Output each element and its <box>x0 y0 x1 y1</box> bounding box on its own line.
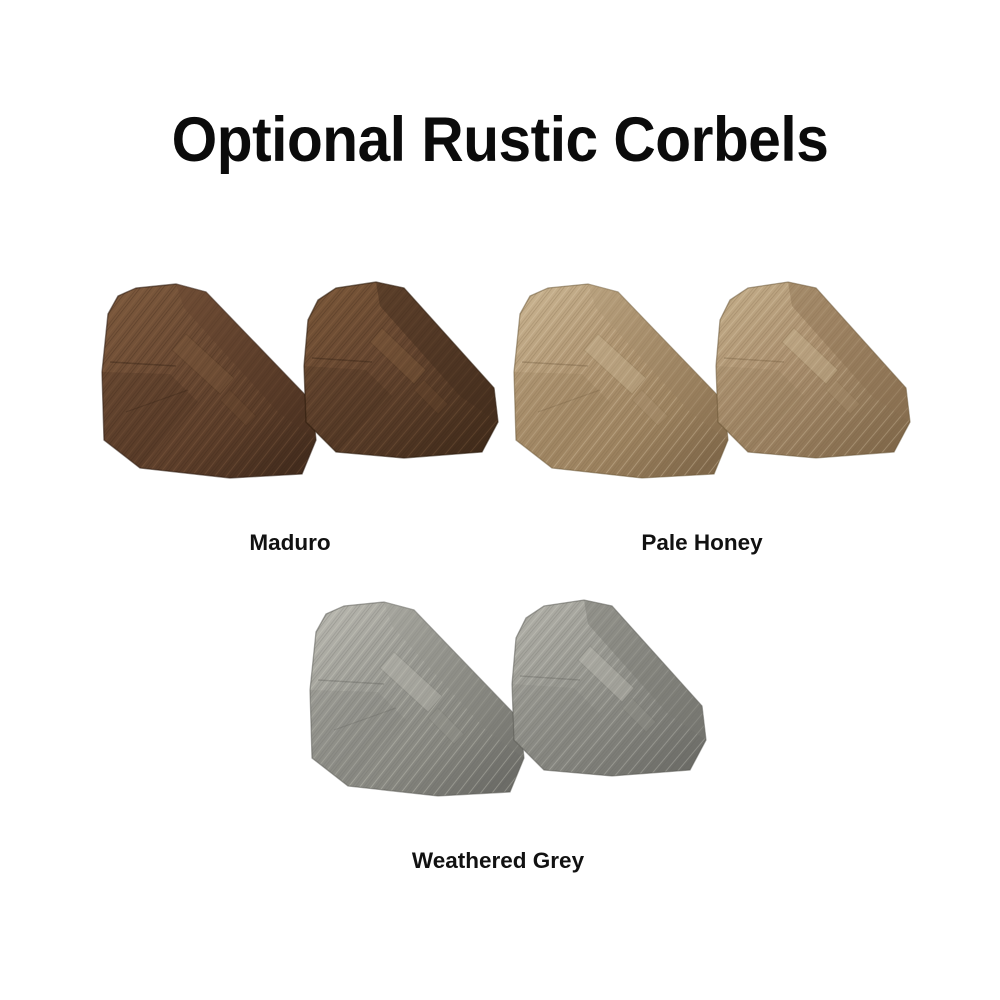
product-sheet: Optional Rustic Corbels <box>0 0 1000 1000</box>
page-title: Optional Rustic Corbels <box>35 103 965 177</box>
corbel-group-maduro: Maduro <box>80 262 500 572</box>
corbel-group-pale-honey: Pale Honey <box>492 262 912 572</box>
corbel-label-weathered-grey: Weathered Grey <box>288 848 708 874</box>
corbel-label-pale-honey: Pale Honey <box>492 530 912 556</box>
corbel-label-maduro: Maduro <box>80 530 500 556</box>
corbel-group-weathered-grey: Weathered Grey <box>288 580 708 890</box>
